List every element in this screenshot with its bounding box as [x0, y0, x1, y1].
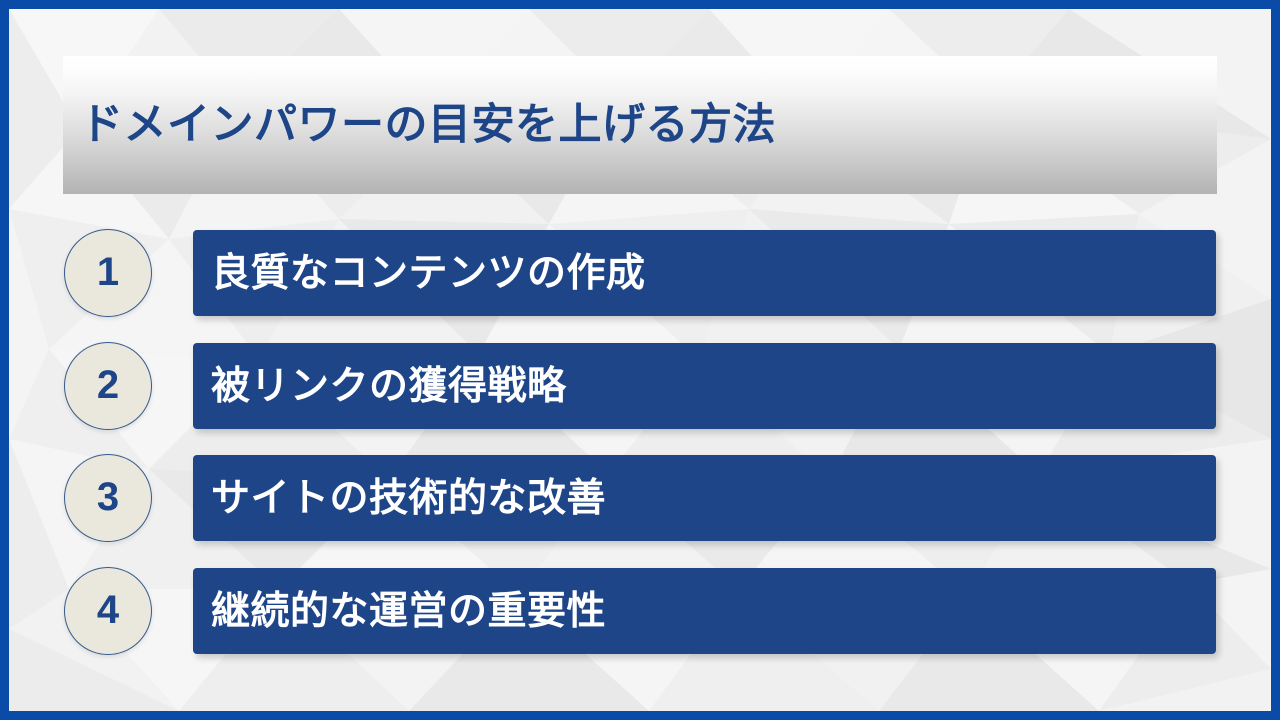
number-badge: 3: [64, 454, 152, 542]
list-item-label: 被リンクの獲得戦略: [211, 367, 567, 406]
number-badge-label: 4: [97, 590, 119, 633]
list-item-label: 継続的な運営の重要性: [211, 592, 606, 631]
list-item[interactable]: 1 良質なコンテンツの作成: [9, 230, 1271, 316]
number-badge-label: 1: [97, 252, 119, 295]
number-badge-label: 2: [97, 365, 119, 408]
list-item-bar[interactable]: サイトの技術的な改善: [193, 455, 1216, 541]
list-item-bar[interactable]: 良質なコンテンツの作成: [193, 230, 1216, 316]
number-badge: 4: [64, 567, 152, 655]
list-item[interactable]: 2 被リンクの獲得戦略: [9, 343, 1271, 429]
number-badge-label: 3: [97, 477, 119, 520]
number-badge: 2: [64, 342, 152, 430]
list-item-bar[interactable]: 被リンクの獲得戦略: [193, 343, 1216, 429]
slide: ドメインパワーの目安を上げる方法 1 良質なコンテンツの作成 2 被リンクの獲得…: [0, 0, 1280, 720]
list-item[interactable]: 4 継続的な運営の重要性: [9, 568, 1271, 654]
list-item-label: 良質なコンテンツの作成: [211, 254, 646, 293]
slide-inner: ドメインパワーの目安を上げる方法 1 良質なコンテンツの作成 2 被リンクの獲得…: [9, 9, 1271, 711]
list-item-bar[interactable]: 継続的な運営の重要性: [193, 568, 1216, 654]
list-item-label: サイトの技術的な改善: [211, 479, 606, 518]
number-badge: 1: [64, 229, 152, 317]
numbered-list: 1 良質なコンテンツの作成 2 被リンクの獲得戦略 3 サイ: [9, 9, 1271, 711]
list-item[interactable]: 3 サイトの技術的な改善: [9, 455, 1271, 541]
